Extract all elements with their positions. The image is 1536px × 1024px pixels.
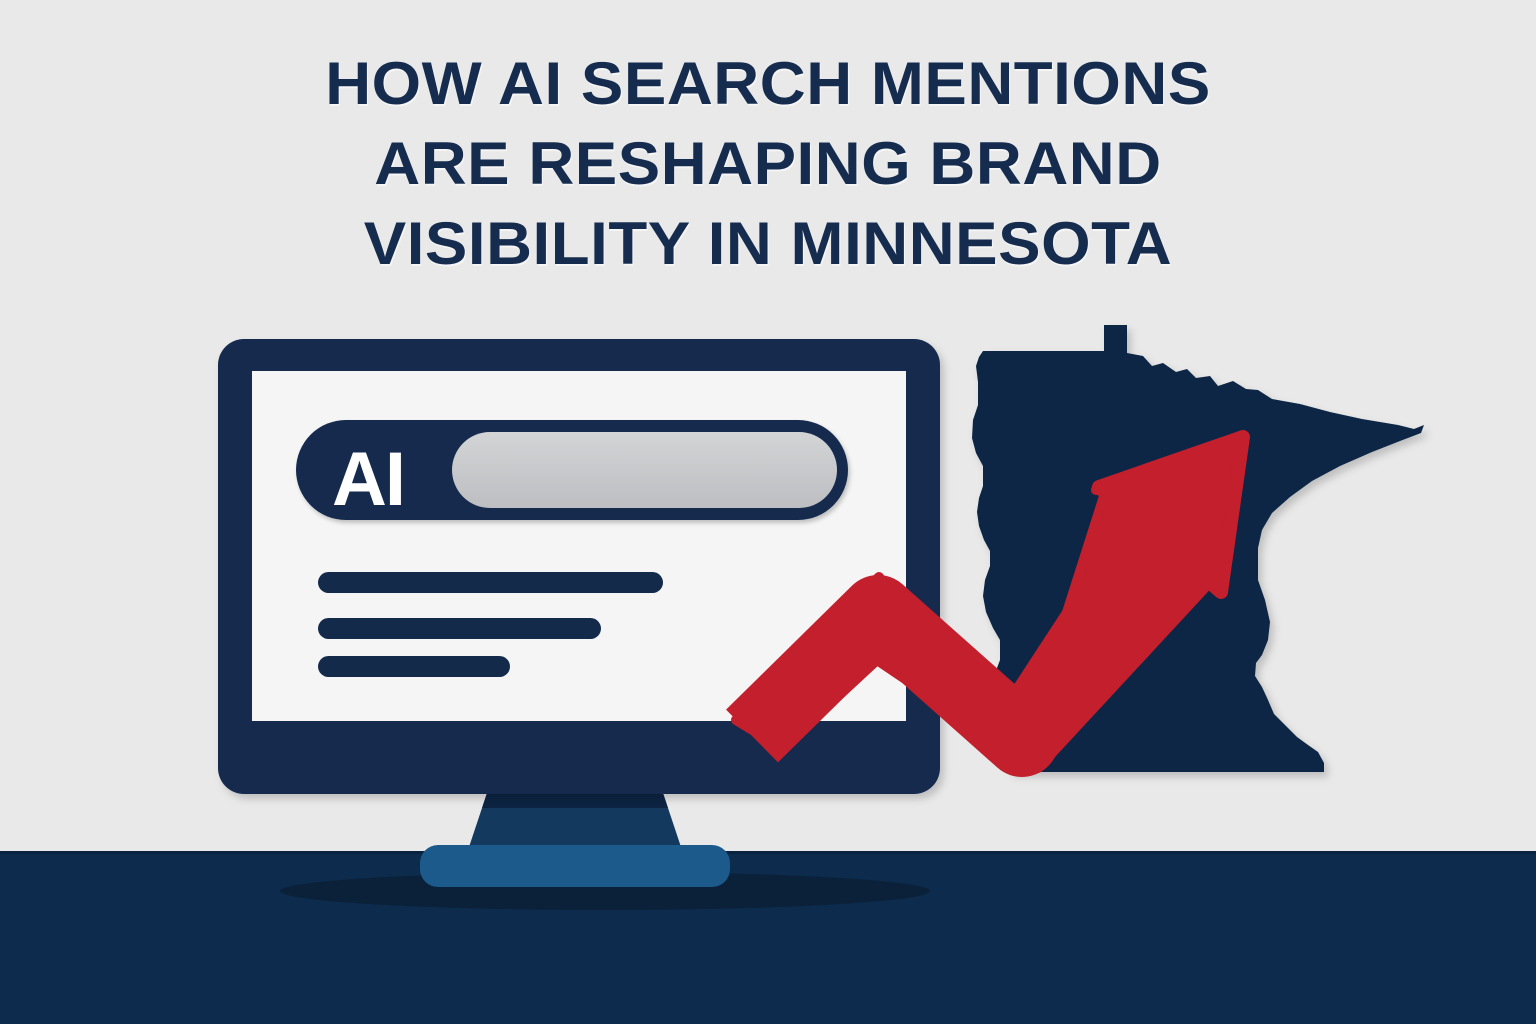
monitor-base [420, 845, 730, 887]
ai-search-input[interactable] [452, 432, 837, 508]
result-line-2 [318, 618, 601, 639]
ai-badge-label: AI [332, 437, 404, 522]
poster-canvas: HOW AI SEARCH MENTIONS ARE RESHAPING BRA… [0, 0, 1536, 1024]
result-line-3 [318, 656, 510, 677]
ai-search-bar[interactable]: AI [296, 420, 848, 522]
result-line-1 [318, 572, 663, 593]
illustration: AI [0, 0, 1536, 1024]
